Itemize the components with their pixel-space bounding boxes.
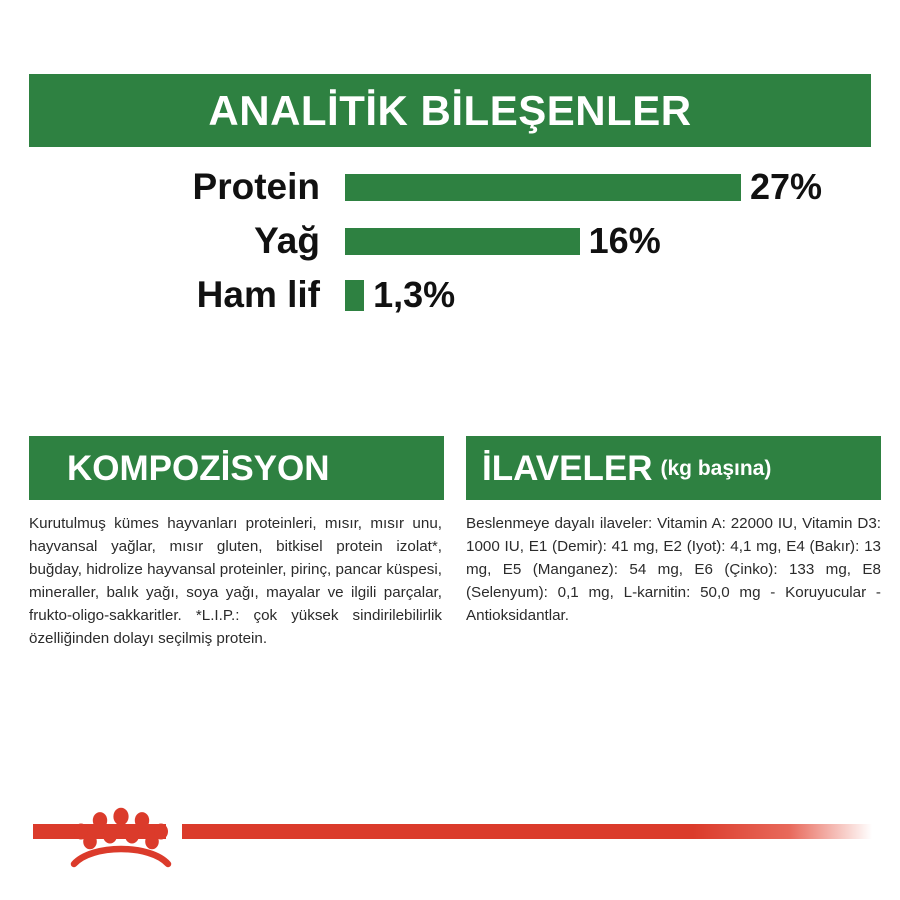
chart-bar [345,280,364,311]
composition-panel: KOMPOZİSYON Kurutulmuş kümes hayvanları … [29,436,444,651]
additives-panel-header: İLAVELER (kg başına) [466,436,881,500]
nutrition-info-panel: ANALİTİK BİLEŞENLER Protein 27% Yağ 16% … [0,0,900,900]
royal-canin-crown-icon [62,800,182,872]
chart-row: Protein 27% [29,164,871,210]
chart-value-label: 1,3% [373,277,455,313]
chart-value-label: 27% [750,169,822,205]
chart-category-label: Ham lif [29,272,320,318]
composition-title: KOMPOZİSYON [67,451,330,486]
analytical-constituents-chart: Protein 27% Yağ 16% Ham lif 1,3% [29,160,871,335]
brand-footer [0,800,900,880]
additives-body-text: Beslenmeye dayalı ilaveler: Vitamin A: 2… [466,512,881,627]
chart-bar [345,228,580,255]
chart-category-label: Protein [29,164,320,210]
chart-row: Yağ 16% [29,218,871,264]
chart-bar [345,174,741,201]
chart-category-label: Yağ [29,218,320,264]
additives-panel: İLAVELER (kg başına) Beslenmeye dayalı i… [466,436,881,627]
chart-bar-group: 27% [345,164,822,210]
chart-bar-group: 16% [345,218,661,264]
composition-body-text: Kurutulmuş kümes hayvanları proteinleri,… [29,512,444,651]
chart-row: Ham lif 1,3% [29,272,871,318]
additives-subtitle: (kg başına) [660,458,771,479]
chart-value-label: 16% [589,223,661,259]
additives-title: İLAVELER [482,451,652,486]
composition-panel-header: KOMPOZİSYON [29,436,444,500]
analytical-constituents-header: ANALİTİK BİLEŞENLER [29,74,871,147]
page-title: ANALİTİK BİLEŞENLER [208,90,691,132]
footer-rule-right [182,824,872,839]
chart-bar-group: 1,3% [345,272,455,318]
